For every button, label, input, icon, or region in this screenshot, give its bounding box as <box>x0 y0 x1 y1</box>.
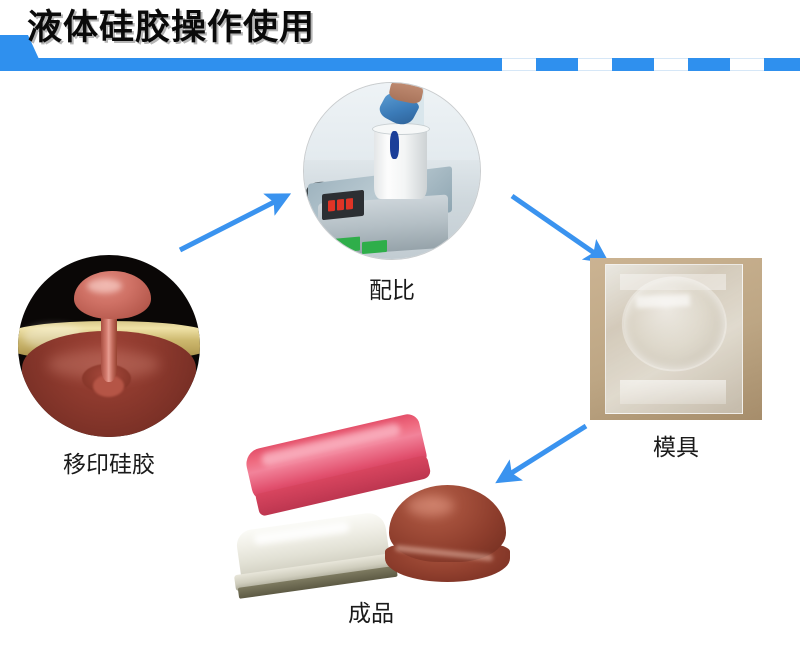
mold-photo <box>590 258 762 420</box>
node-label-mixing: 配比 <box>303 271 481 305</box>
page-header: 液体硅胶操作使用 <box>0 0 800 78</box>
node-label-mold: 模具 <box>590 428 762 462</box>
header-accent-bar <box>0 58 468 71</box>
silicone-photo <box>18 255 200 437</box>
hemispherical-cavity <box>624 279 724 370</box>
silicone-blob <box>74 271 150 318</box>
arrow-mold-to-products <box>502 426 586 479</box>
flow-node-silicone: 移印硅胶 <box>18 255 200 437</box>
page-title: 液体硅胶操作使用 <box>27 4 315 52</box>
flow-node-products: 成品 <box>232 424 510 594</box>
acrylic-block <box>605 264 743 413</box>
arrow-silicone-to-mixing <box>180 197 284 250</box>
blue-catalyst-stream <box>390 131 399 159</box>
block-bottom-band <box>620 380 726 404</box>
scale-display <box>322 190 364 221</box>
product-white-pad <box>228 510 400 602</box>
block-glare <box>636 294 691 308</box>
mixing-photo <box>303 82 481 260</box>
flow-node-mixing: 配比 <box>303 82 481 260</box>
node-label-products: 成品 <box>232 594 510 628</box>
header-dashed-bar <box>468 58 800 71</box>
scale-keypad-green <box>325 236 360 253</box>
node-label-silicone: 移印硅胶 <box>18 445 200 479</box>
flow-node-mold: 模具 <box>590 258 762 420</box>
arrow-mixing-to-mold <box>512 196 603 259</box>
white-bucket <box>374 125 427 199</box>
product-brown-dome-pad <box>385 485 510 584</box>
